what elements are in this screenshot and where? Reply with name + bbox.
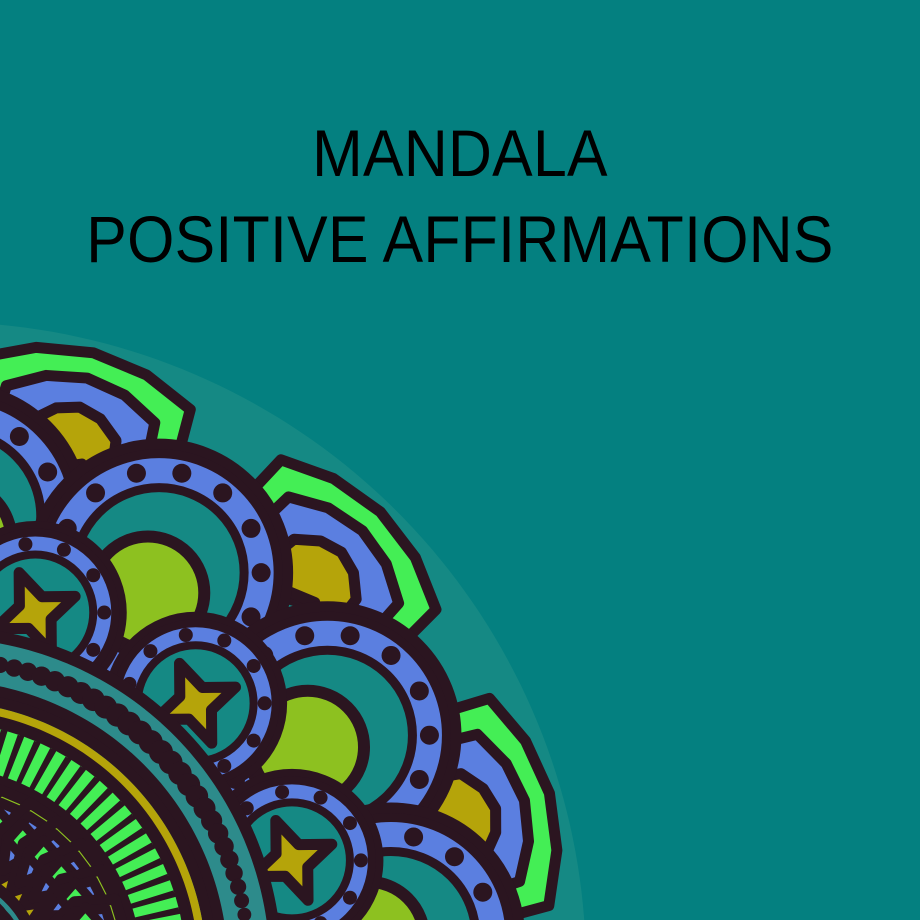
- mandala-illustration: [0, 0, 920, 920]
- mandala-svg: [0, 0, 920, 920]
- poster-canvas: MANDALA POSITIVE AFFIRMATIONS: [0, 0, 920, 920]
